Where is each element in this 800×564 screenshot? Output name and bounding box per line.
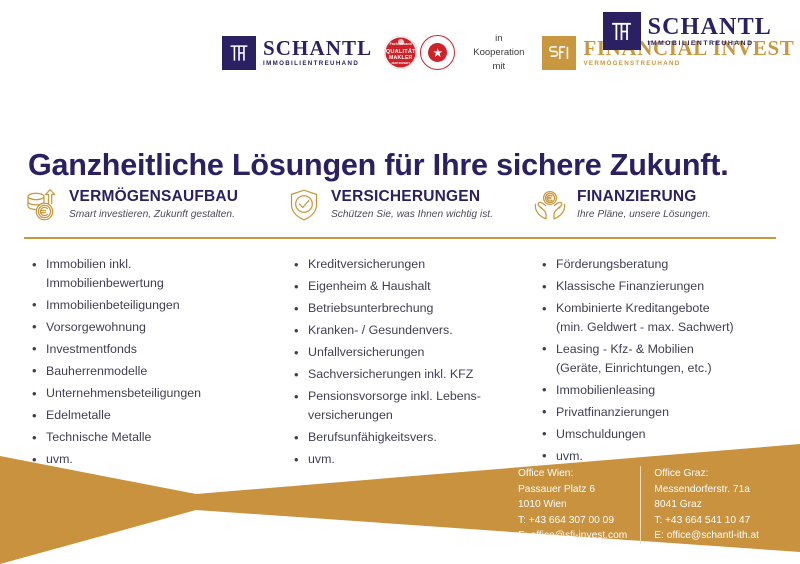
office-graz-phone[interactable]: T: +43 664 541 10 47 — [654, 513, 759, 529]
list-item: Umschuldungen — [540, 425, 790, 444]
list-item: Leasing - Kfz- & Mobilien — [540, 340, 790, 359]
office-addresses: Office Wien: Passauer Platz 6 1010 Wien … — [518, 466, 759, 544]
schantl-subtitle: IMMOBILIENTREUHAND — [263, 61, 372, 67]
list-item: Förderungsberatung — [540, 255, 790, 274]
ith-monogram-corner-icon — [603, 12, 641, 50]
office-wien: Office Wien: Passauer Platz 6 1010 Wien … — [518, 466, 640, 544]
list-item: Pensionsvorsorge inkl. Lebens- — [292, 387, 536, 406]
list-item-continuation: Immobilienbewertung — [30, 274, 286, 293]
shield-check-icon — [286, 187, 322, 223]
cooperation-line-3: mit — [493, 61, 506, 72]
schantl-name: SCHANTL — [263, 38, 372, 59]
office-wien-name: Office Wien: — [518, 466, 627, 482]
list-item: Edelmetalle — [30, 406, 286, 425]
cooperation-line-2: Kooperation — [473, 47, 524, 58]
gold-divider-rule — [24, 237, 776, 239]
sfi-subtitle: VERMÖGENSTREUHAND — [583, 61, 794, 67]
coins-euro-growth-icon — [24, 187, 60, 223]
column-slogan-finanzierung: Ihre Pläne, unsere Lösungen. — [577, 209, 711, 221]
list-item: Vorsorgewohnung — [30, 318, 286, 337]
list-item: Kranken- / Gesundenvers. — [292, 321, 536, 340]
schantl-corner-subtitle: IMMOBILIENTREUHAND — [648, 41, 772, 48]
qualitaets-makler-seal-icon: Fachverband QUALITÄT MAKLER ZERTIFIZIERT — [384, 36, 417, 69]
office-graz: Office Graz: Messendorferstr. 71a 8041 G… — [640, 466, 759, 544]
office-graz-street: Messendorferstr. 71a — [654, 482, 759, 498]
service-list-vermoegensaufbau: Immobilien inkl. Immobilienbewertung Imm… — [30, 255, 286, 472]
office-wien-street: Passauer Platz 6 — [518, 482, 627, 498]
list-item: Immobilienbeteiligungen — [30, 296, 286, 315]
office-graz-email[interactable]: E: office@schantl-ith.at — [654, 528, 759, 544]
list-item-continuation: (Geräte, Einrichtungen, etc.) — [540, 359, 790, 378]
header-logo-bar: SCHANTL IMMOBILIENTREUHAND Fachverband Q… — [0, 0, 800, 100]
column-slogan-versicherungen: Schützen Sie, was Ihnen wichtig ist. — [331, 209, 493, 221]
list-item: Sachversicherungen inkl. KFZ — [292, 365, 536, 384]
column-finanzierung: FINANZIERUNG Ihre Pläne, unsere Lösungen… — [532, 186, 776, 232]
list-item: Betriebsunterbrechung — [292, 299, 536, 318]
list-item: Eigenheim & Haushalt — [292, 277, 536, 296]
column-title-finanzierung: FINANZIERUNG — [577, 188, 711, 206]
sachverstaendiger-seal-icon — [420, 35, 455, 70]
cooperation-line-1: in — [495, 33, 502, 44]
column-slogan-vermoegensaufbau: Smart investieren, Zukunft gestalten. — [69, 209, 238, 221]
list-item: Unternehmensbeteiligungen — [30, 384, 286, 403]
list-item: Klassische Finanzierungen — [540, 277, 790, 296]
list-item: Unfallversicherungen — [292, 343, 536, 362]
office-graz-name: Office Graz: — [654, 466, 759, 482]
list-item-continuation: versicherungen — [292, 406, 536, 425]
ith-monogram-icon — [222, 36, 256, 70]
office-wien-email[interactable]: E: office@sfi-invest.com — [518, 528, 627, 544]
hands-holding-euro-icon — [532, 187, 568, 223]
office-wien-city: 1010 Wien — [518, 497, 627, 513]
certification-seals: Fachverband QUALITÄT MAKLER ZERTIFIZIERT — [384, 35, 455, 70]
schantl-logo-corner: SCHANTL IMMOBILIENTREUHAND — [603, 12, 772, 50]
column-title-versicherungen: VERSICHERUNGEN — [331, 188, 493, 206]
schantl-wordmark: SCHANTL IMMOBILIENTREUHAND — [263, 38, 372, 67]
footer-contact-band: Office Wien: Passauer Platz 6 1010 Wien … — [0, 444, 800, 564]
list-item: Kreditversicherungen — [292, 255, 536, 274]
list-item: Immobilien inkl. — [30, 255, 286, 274]
list-item: Kombinierte Kreditangebote — [540, 299, 790, 318]
schantl-logo-primary: SCHANTL IMMOBILIENTREUHAND — [222, 36, 372, 70]
service-column-headers: VERMÖGENSAUFBAU Smart investieren, Zukun… — [24, 186, 776, 232]
list-item: Privatfinanzierungen — [540, 403, 790, 422]
office-wien-phone[interactable]: T: +43 664 307 00 09 — [518, 513, 627, 529]
service-list-finanzierung: Förderungsberatung Klassische Finanzieru… — [540, 255, 790, 469]
column-versicherungen: VERSICHERUNGEN Schützen Sie, was Ihnen w… — [286, 186, 532, 232]
list-item-continuation: (min. Geldwert - max. Sachwert) — [540, 318, 790, 337]
column-vermoegensaufbau: VERMÖGENSAUFBAU Smart investieren, Zukun… — [24, 186, 286, 232]
list-item: Immobilienleasing — [540, 381, 790, 400]
flyer-page: SCHANTL IMMOBILIENTREUHAND Fachverband Q… — [0, 0, 800, 564]
list-item: Investmentfonds — [30, 340, 286, 359]
page-headline: Ganzheitliche Lösungen für Ihre sichere … — [28, 148, 728, 183]
list-item: Bauherrenmodelle — [30, 362, 286, 381]
office-graz-city: 8041 Graz — [654, 497, 759, 513]
sfi-monogram-icon — [542, 36, 576, 70]
seal-line-4: ZERTIFIZIERT — [384, 61, 417, 65]
service-list-versicherungen: Kreditversicherungen Eigenheim & Haushal… — [292, 255, 536, 472]
schantl-corner-name: SCHANTL — [648, 15, 772, 39]
seal-line-1: Fachverband — [384, 42, 417, 46]
schantl-corner-wordmark: SCHANTL IMMOBILIENTREUHAND — [648, 15, 772, 48]
cooperation-note: in Kooperation mit — [473, 32, 524, 73]
column-title-vermoegensaufbau: VERMÖGENSAUFBAU — [69, 188, 238, 206]
seal-line-2: QUALITÄT — [384, 49, 417, 55]
